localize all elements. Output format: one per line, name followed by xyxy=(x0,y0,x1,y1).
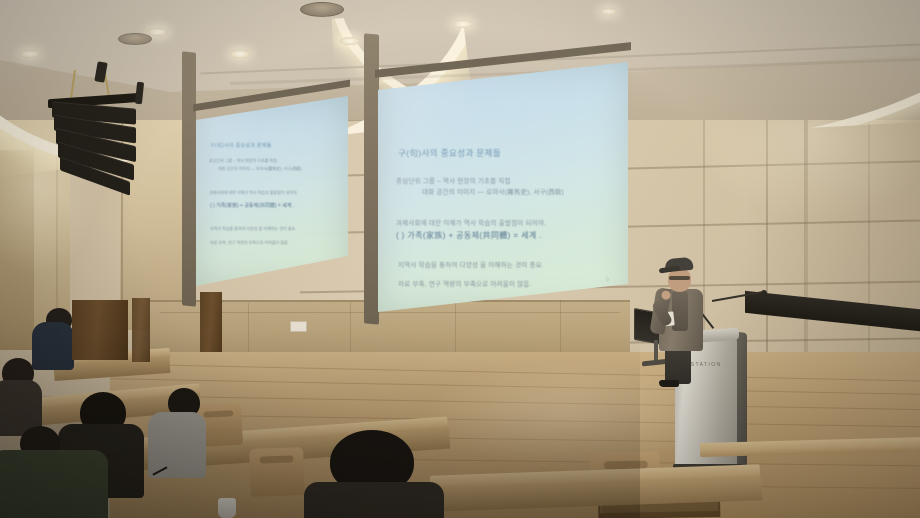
lecture-hall-photo: 구(句)사의 중요성과 문제들 중심단위 그룹 – 역사 현장의 기초를 직접 … xyxy=(0,0,920,518)
downlight-icon xyxy=(340,37,360,45)
audience-long-hair xyxy=(0,358,46,428)
wall-control-panel[interactable] xyxy=(290,321,307,332)
main-slide-content: 구(句)사의 중요성과 문제들 중심단위 그룹 – 역사 현장의 기초를 직접 … xyxy=(378,62,628,312)
secondary-screen-housing xyxy=(182,51,196,306)
slide-page-number: 5 xyxy=(606,277,609,283)
slide-line-mirror: 대화 공간의 이미지 — 로마사(羅馬史), 서구(西歐) xyxy=(218,166,302,172)
main-projection-screen: 구(句)사의 중요성과 문제들 중심단위 그룹 – 역사 현장의 기초를 직접 … xyxy=(378,62,628,312)
ceiling-speaker-icon xyxy=(300,2,344,17)
audience-grey-sweater xyxy=(148,388,210,474)
slide-line-mirror: 중심단위 그룹 – 역사 현장의 기초를 직접 xyxy=(209,158,277,164)
slide-title: 구(句)사의 중요성과 문제들 xyxy=(398,147,501,159)
microphone-head-icon xyxy=(761,290,767,296)
downlight-icon xyxy=(20,50,40,58)
slide-line-mirror: 지역사 학습을 통하여 다양성 을 이해하는 것이 중요. xyxy=(210,226,296,232)
slide-line-mirror: 자료 부족, 연구 역량의 부족으로 어려움이 많음. xyxy=(210,240,289,246)
slide-line-mirror: ( ) 가족(家族) + 공동체(共同體) = 세계 . xyxy=(210,202,294,209)
side-cabinet-edge xyxy=(132,298,150,362)
paper-cup xyxy=(218,498,236,518)
slide-line-2: 대화 공간의 이미지 — 로마사(羅馬史), 서구(西歐) xyxy=(422,186,564,196)
line-array-speaker xyxy=(48,96,144,186)
slide-title-mirror: 구(句)사의 중요성과 문제들 xyxy=(210,142,272,149)
audience-foreground xyxy=(320,430,430,518)
slide-line-3: 과제사회에 대한 이해가 역사 학습의 출발점이 되어야, xyxy=(396,217,546,227)
secondary-slide-content: 구(句)사의 중요성과 문제들 중심단위 그룹 – 역사 현장의 기초를 직접 … xyxy=(196,96,348,286)
slide-line-mirror: 과제사회에 대한 이해가 역사 학습의 출발점이 되어야, xyxy=(209,190,298,196)
slide-line-6: 자료 부족, 연구 역량의 부족으로 어려움이 많음. xyxy=(398,278,531,288)
presenter-hand xyxy=(661,290,671,300)
presenter-legs xyxy=(665,348,691,384)
downlight-icon xyxy=(453,20,473,28)
slide-line-4: ( ) 가족(家族) + 공동체(共同體) = 세계 . xyxy=(396,230,542,241)
downlight-icon xyxy=(600,8,617,15)
presenter-shoe xyxy=(659,380,679,387)
audience-laptop-user xyxy=(28,306,78,366)
presenter xyxy=(653,258,715,368)
downlight-icon xyxy=(230,50,250,58)
slide-line-1: 중심단위 그룹 – 역사 현장의 기초를 직접 xyxy=(396,175,511,185)
downlight-icon xyxy=(148,28,168,36)
secondary-projection-screen: 구(句)사의 중요성과 문제들 중심단위 그룹 – 역사 현장의 기초를 직접 … xyxy=(196,96,348,286)
audience-green-jacket xyxy=(0,430,110,518)
side-cabinet xyxy=(72,300,128,360)
slide-line-5: 지역사 학습을 통하여 다양성 을 이해하는 것이 중요. xyxy=(398,259,544,269)
glasses-icon xyxy=(669,276,690,280)
chair-back[interactable] xyxy=(249,447,305,497)
ceiling-speaker-icon xyxy=(118,33,152,45)
dado-line xyxy=(160,312,620,313)
